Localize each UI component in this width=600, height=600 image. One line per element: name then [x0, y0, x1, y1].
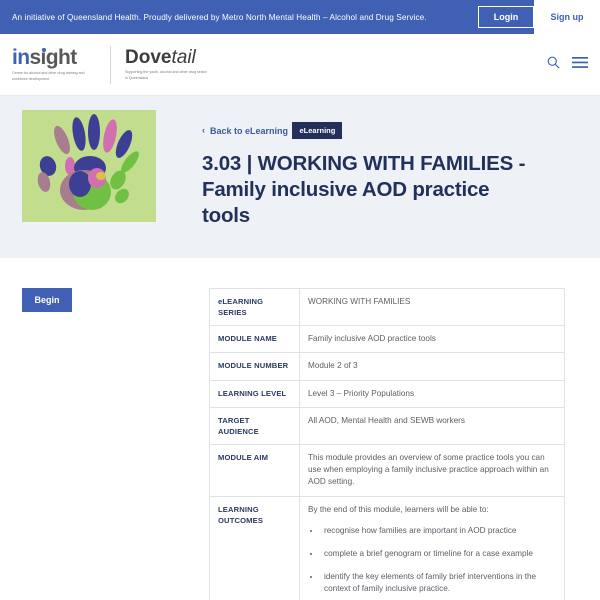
table-row: TARGET AUDIENCE All AOD, Mental Health a…: [210, 407, 565, 444]
row-value: This module provides an overview of some…: [300, 444, 565, 496]
initiative-statement: An initiative of Queensland Health. Prou…: [12, 13, 427, 22]
dovetail-wordmark-bold: Dove: [125, 47, 171, 68]
top-utility-bar: An initiative of Queensland Health. Prou…: [0, 0, 600, 34]
dovetail-wordmark: Dovetail: [125, 48, 209, 67]
row-label: LEARNING LEVEL: [210, 380, 300, 407]
breadcrumb-label: Back to eLearning: [210, 126, 288, 136]
row-label: MODULE NUMBER: [210, 353, 300, 380]
table-row: MODULE NAME Family inclusive AOD practic…: [210, 326, 565, 353]
row-value-outcomes: By the end of this module, learners will…: [300, 496, 565, 600]
row-label: eLEARNING SERIES: [210, 289, 300, 326]
main-content: Begin eLEARNING SERIES WORKING WITH FAMI…: [0, 258, 600, 600]
table-row: MODULE AIM This module provides an overv…: [210, 444, 565, 496]
module-details-body: eLEARNING SERIES WORKING WITH FAMILIES M…: [210, 289, 565, 600]
table-row: MODULE NUMBER Module 2 of 3: [210, 353, 565, 380]
hero-content: ‹ Back to eLearning eLearning 3.03 | WOR…: [202, 110, 542, 258]
table-row: LEARNING LEVEL Level 3 – Priority Popula…: [210, 380, 565, 407]
outcomes-intro: By the end of this module, learners will…: [308, 505, 489, 514]
row-value: Module 2 of 3: [300, 353, 565, 380]
list-item: recognise how families are important in …: [321, 525, 556, 537]
insight-wordmark: insight: [12, 47, 96, 68]
login-button[interactable]: Login: [478, 6, 534, 28]
list-item: complete a brief genogram or timeline fo…: [321, 548, 556, 560]
page-title: 3.03 | WORKING WITH FAMILIES - Family in…: [202, 151, 542, 228]
dovetail-wordmark-italic: tail: [171, 47, 195, 68]
table-row-learning-outcomes: LEARNING OUTCOMES By the end of this mod…: [210, 496, 565, 600]
row-value: Family inclusive AOD practice tools: [300, 326, 565, 353]
signup-button[interactable]: Sign up: [534, 0, 600, 34]
dovetail-logo[interactable]: Dovetail Supporting the youth, alcohol a…: [125, 48, 209, 80]
row-label: TARGET AUDIENCE: [210, 407, 300, 444]
table-row: eLEARNING SERIES WORKING WITH FAMILIES: [210, 289, 565, 326]
logo-divider: [110, 46, 111, 84]
module-details-table-wrap: eLEARNING SERIES WORKING WITH FAMILIES M…: [209, 288, 600, 600]
insight-wordmark-in: in: [12, 46, 29, 69]
insight-wordmark-rest: sight: [29, 46, 76, 69]
header-icon-group: [547, 56, 588, 74]
action-column: Begin: [0, 288, 209, 600]
breadcrumb-back-to-elearning[interactable]: ‹ Back to eLearning: [202, 126, 288, 136]
auth-actions: Login Sign up: [478, 0, 600, 34]
chevron-left-icon: ‹: [202, 126, 205, 135]
row-label: MODULE NAME: [210, 326, 300, 353]
row-value: WORKING WITH FAMILIES: [300, 289, 565, 326]
category-badge: eLearning: [292, 122, 342, 139]
site-header: insight Centre for alcohol and other dru…: [0, 34, 600, 96]
row-value: All AOD, Mental Health and SEWB workers: [300, 407, 565, 444]
dovetail-tagline: Supporting the youth, alcohol and other …: [125, 70, 209, 80]
row-value: Level 3 – Priority Populations: [300, 380, 565, 407]
module-details-table: eLEARNING SERIES WORKING WITH FAMILIES M…: [209, 288, 565, 600]
hero-section: ‹ Back to eLearning eLearning 3.03 | WOR…: [0, 96, 600, 258]
row-label: MODULE AIM: [210, 444, 300, 496]
outcomes-list: recognise how families are important in …: [321, 525, 556, 595]
begin-button[interactable]: Begin: [22, 288, 72, 312]
hamburger-menu-icon[interactable]: [572, 56, 588, 74]
search-icon[interactable]: [547, 56, 560, 74]
row-label: LEARNING OUTCOMES: [210, 496, 300, 600]
insight-logo[interactable]: insight Centre for alcohol and other dru…: [12, 47, 96, 81]
list-item: identify the key elements of family brie…: [321, 571, 556, 595]
module-thumbnail: [22, 110, 156, 222]
insight-tagline: Centre for alcohol and other drug traini…: [12, 71, 96, 81]
